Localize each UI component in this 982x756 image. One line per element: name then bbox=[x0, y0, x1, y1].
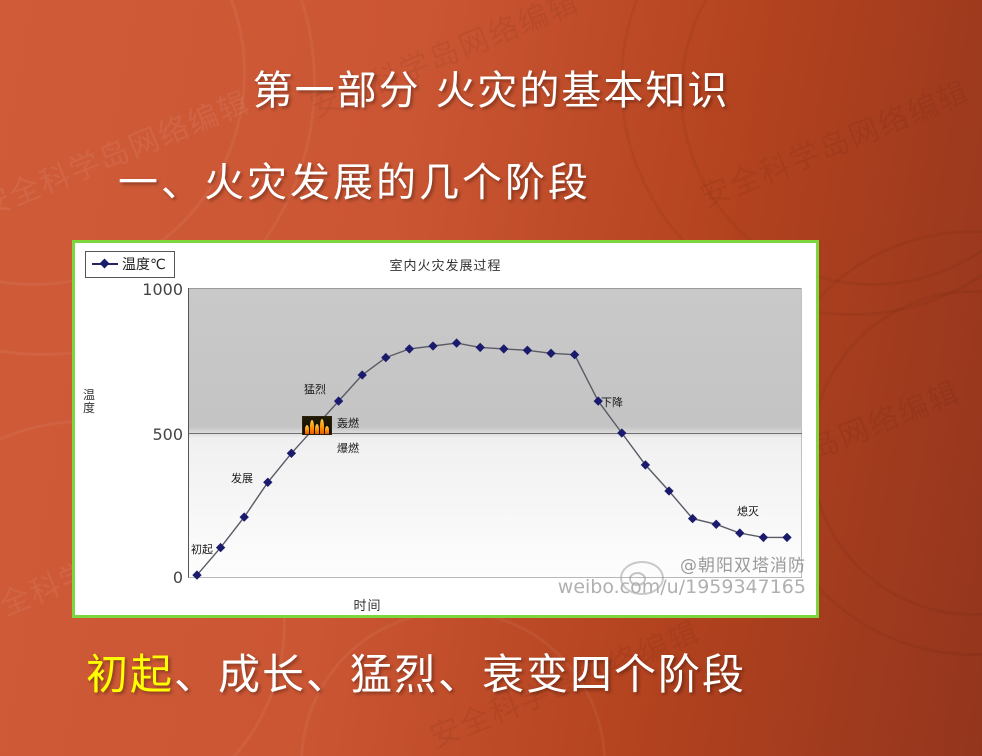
section-heading: 一、火灾发展的几个阶段 bbox=[118, 150, 591, 208]
plot-area: 初起 发展 猛烈 轰燃 爆燃 下降 熄灭 bbox=[188, 288, 802, 578]
page-title: 第一部分 火灾的基本知识 bbox=[0, 58, 982, 116]
annotation-熄灭: 熄灭 bbox=[737, 503, 759, 519]
annotation-初起: 初起 bbox=[191, 541, 213, 557]
x-axis-title: 时间 bbox=[75, 595, 816, 614]
y-tick-1000: 1000 bbox=[119, 280, 183, 299]
y-tick-500: 500 bbox=[119, 425, 183, 444]
slide: 安全科学岛网络编辑 安全科学岛网络编辑 安全科学岛网络编辑 安全科学岛网络编辑 … bbox=[0, 0, 982, 756]
annotation-发展: 发展 bbox=[231, 470, 253, 486]
chart-image: 温度℃ 室内火灾发展过程 温度 1000 500 0 初起 发展 bbox=[72, 240, 819, 618]
annotation-爆燃: 爆燃 bbox=[337, 440, 359, 456]
y-axis-title: 温度 bbox=[81, 389, 97, 415]
annotation-轰燃: 轰燃 bbox=[337, 415, 359, 431]
slide-caption: 初起、成长、猛烈、衰变四个阶段 bbox=[86, 641, 746, 702]
temperature-curve bbox=[189, 288, 803, 578]
caption-rest: 、成长、猛烈、衰变四个阶段 bbox=[174, 650, 746, 699]
decorative-ring bbox=[810, 290, 982, 616]
caption-highlight: 初起 bbox=[86, 650, 174, 699]
flame-icon bbox=[302, 416, 332, 435]
y-tick-0: 0 bbox=[119, 568, 183, 587]
chart-title: 室内火灾发展过程 bbox=[75, 255, 816, 274]
x-axis-title-text: 时间 bbox=[353, 595, 381, 614]
y-axis-ticks: 1000 500 0 bbox=[119, 243, 183, 615]
annotation-下降: 下降 bbox=[601, 394, 623, 410]
annotation-猛烈: 猛烈 bbox=[304, 381, 326, 397]
